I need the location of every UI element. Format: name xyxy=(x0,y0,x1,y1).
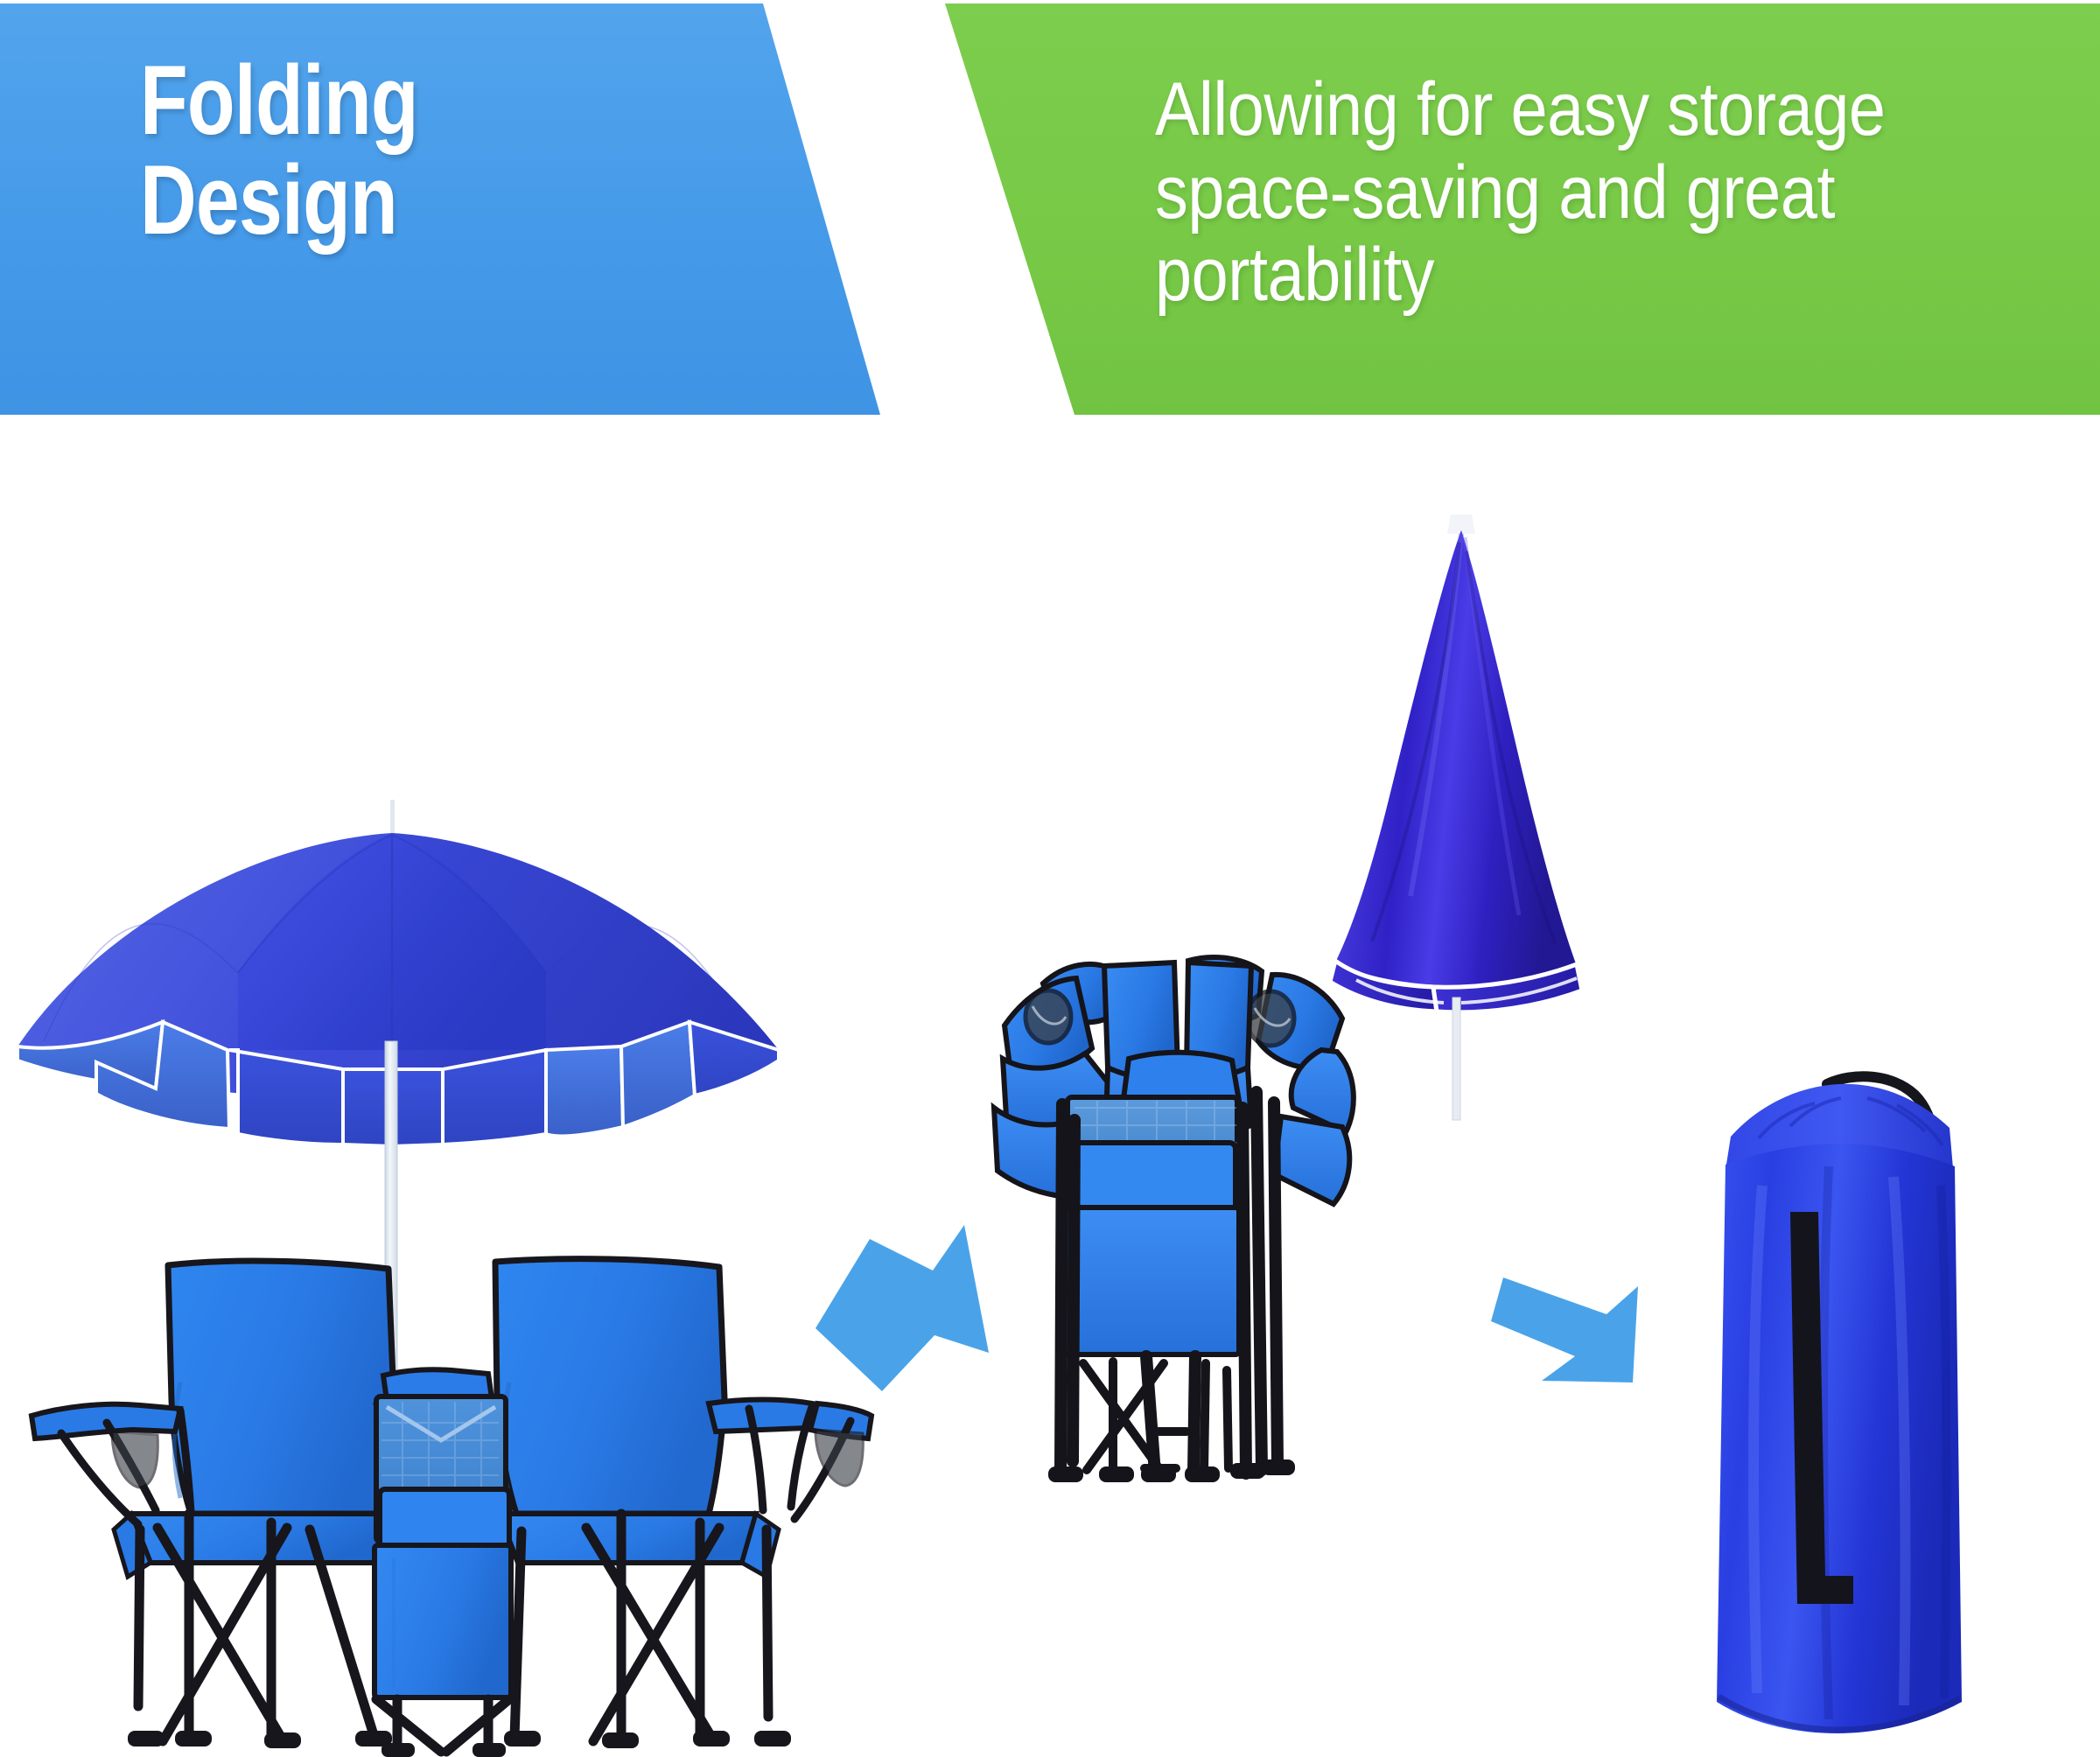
subheadline-line-2: space-saving and great xyxy=(1155,151,1971,234)
subheadline-line-1: Allowing for easy storage xyxy=(1155,68,1971,151)
headline-folding-design: Folding Design xyxy=(140,51,630,250)
arrow-step-2 xyxy=(1487,1276,1689,1433)
folded-cooler-body xyxy=(1064,1207,1239,1354)
headline-line-1: Folding xyxy=(140,51,630,150)
product-double-chair-open xyxy=(9,1251,875,1757)
chair-center-cooler xyxy=(374,1369,511,1697)
product-carry-bag xyxy=(1706,1054,1986,1754)
headline-line-2: Design xyxy=(140,150,630,250)
umbrella-closed-pole xyxy=(1452,997,1460,1120)
subheadline-line-3: portability xyxy=(1155,234,1971,317)
infographic-canvas: Folding Design Allowing for easy storage… xyxy=(0,0,2100,1757)
product-chair-folded xyxy=(989,945,1452,1557)
subheadline-portability: Allowing for easy storage space-saving a… xyxy=(1155,68,1971,317)
cooler-front-pocket xyxy=(380,1489,509,1547)
folded-cooler-flap xyxy=(1066,1143,1235,1213)
folded-cooler xyxy=(1064,1053,1239,1354)
umbrella-finial xyxy=(390,800,395,838)
arrow-step-1 xyxy=(814,1223,1015,1398)
